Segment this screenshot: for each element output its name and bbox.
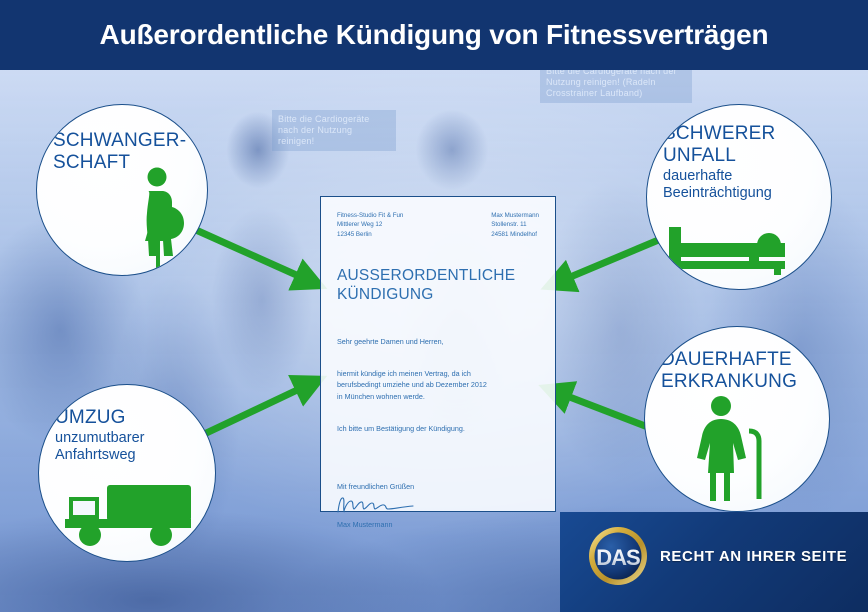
das-logo[interactable]: DAS RECHT AN IHRER SEITE xyxy=(588,524,856,588)
circle-schwangerschaft[interactable]: SCHWANGER- SCHAFT xyxy=(36,104,208,276)
letter-paragraph-1: hiermit kündige ich meinen Vertrag, da i… xyxy=(337,368,539,403)
moving-truck-icon xyxy=(65,485,193,552)
das-claim-text: RECHT AN IHRER SEITE xyxy=(660,548,847,565)
wall-sign-left: Bitte die Cardiogeräte nach der Nutzung … xyxy=(272,110,396,151)
termination-letter[interactable]: Fitness-Studio Fit & Fun Mittlerer Weg 1… xyxy=(320,196,556,512)
circle-erkrankung-title: DAUERHAFTE ERKRANKUNG xyxy=(661,349,813,393)
letter-salutation: Sehr geehrte Damen und Herren, xyxy=(337,336,539,348)
letter-heading: AUSSERORDENTLICHE KÜNDIGUNG xyxy=(337,266,539,304)
letter-sender-address: Fitness-Studio Fit & Fun Mittlerer Weg 1… xyxy=(337,211,403,239)
svg-text:DAS: DAS xyxy=(596,545,640,570)
letter-paragraph-2: Ich bitte um Bestätigung der Kündigung. xyxy=(337,423,539,435)
page-title: Außerordentliche Kündigung von Fitnessve… xyxy=(100,19,769,51)
letter-signature-name: Max Mustermann xyxy=(337,519,539,531)
circle-unfall[interactable]: SCHWERER UNFALL dauerhafte Beeinträchtig… xyxy=(646,104,832,290)
pregnant-woman-icon xyxy=(133,167,191,276)
elderly-person-with-cane-icon xyxy=(697,395,775,510)
hospital-bed-icon xyxy=(669,223,791,280)
circle-umzug-title: UMZUG xyxy=(55,407,199,429)
infographic-canvas: Bitte die Cardiogeräte nach der Nutzung … xyxy=(0,0,868,612)
circle-unfall-title: SCHWERER UNFALL xyxy=(663,123,815,167)
das-badge-icon: DAS xyxy=(588,526,648,586)
circle-umzug[interactable]: UMZUG unzumutbarer Anfahrtsweg xyxy=(38,384,216,562)
letter-closing: Mit freundlichen Grüßen xyxy=(337,481,539,493)
circle-umzug-subtitle: unzumutbarer Anfahrtsweg xyxy=(55,430,199,464)
letter-recipient-address: Max Mustermann Stollenstr. 11 24581 Mind… xyxy=(491,211,539,239)
signature-icon xyxy=(335,495,431,515)
circle-unfall-subtitle: dauerhafte Beeinträchtigung xyxy=(663,168,815,202)
header-bar: Außerordentliche Kündigung von Fitnessve… xyxy=(0,0,868,70)
circle-erkrankung[interactable]: DAUERHAFTE ERKRANKUNG xyxy=(644,326,830,512)
